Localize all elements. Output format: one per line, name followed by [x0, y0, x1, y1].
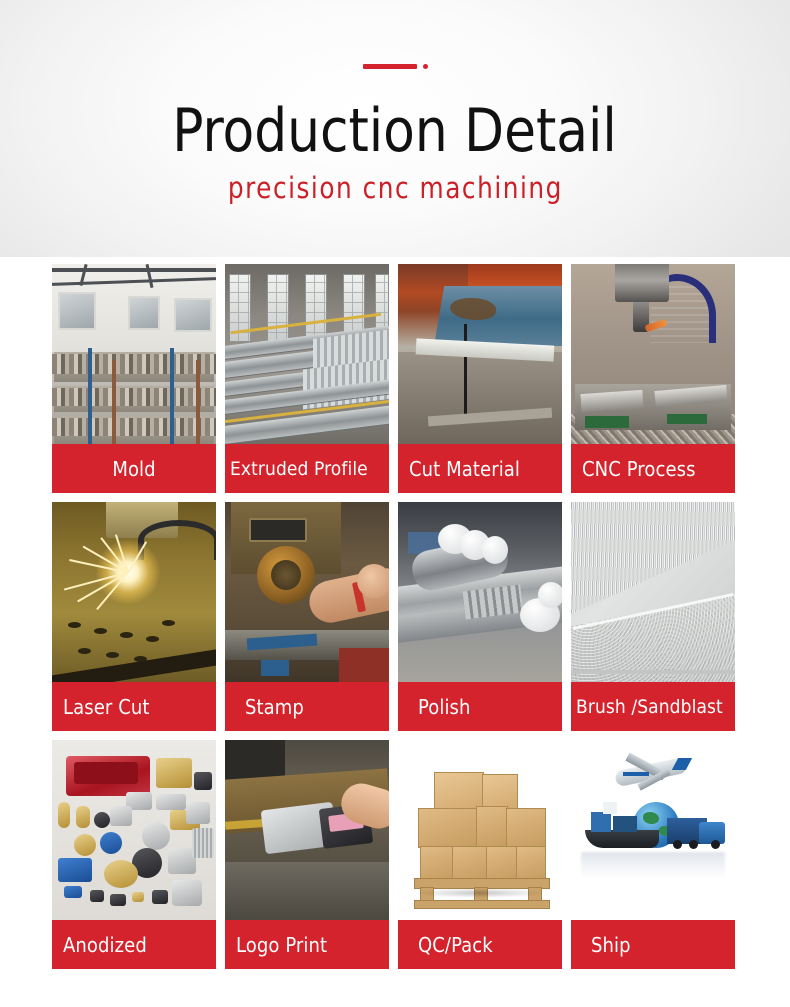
dash-icon — [363, 64, 417, 69]
step-card[interactable]: Mold — [52, 264, 216, 493]
step-label: QC/Pack — [398, 920, 562, 969]
step-label: Brush /Sandblast — [571, 682, 735, 731]
aluminium-stacks-photo — [225, 264, 389, 444]
page-header: Production Detail precision cnc machinin… — [0, 0, 790, 257]
step-label: CNC Process — [571, 444, 735, 493]
dot-icon — [423, 64, 428, 69]
step-label: Ship — [571, 920, 735, 969]
step-label: Cut Material — [398, 444, 562, 493]
cnc-spindle-photo — [571, 264, 735, 444]
header-decoration — [363, 62, 428, 71]
brushed-metal-photo — [571, 502, 735, 682]
step-label: Mold — [52, 444, 216, 493]
step-card[interactable]: Polish — [398, 502, 562, 731]
page-subtitle: precision cnc machining — [227, 171, 562, 205]
step-label: Laser Cut — [52, 682, 216, 731]
step-card[interactable]: Laser Cut — [52, 502, 216, 731]
step-card[interactable]: Ship — [571, 740, 735, 969]
step-card[interactable]: Stamp — [225, 502, 389, 731]
saw-cutting-photo — [398, 264, 562, 444]
logo-printing-photo — [225, 740, 389, 920]
step-label: Logo Print — [225, 920, 389, 969]
header-content: Production Detail precision cnc machinin… — [0, 0, 790, 257]
step-label: Polish — [398, 682, 562, 731]
cartons-pallet-photo — [398, 740, 562, 920]
factory-racks-photo — [52, 264, 216, 444]
polishing-hands-photo — [398, 502, 562, 682]
step-label: Stamp — [225, 682, 389, 731]
step-label: Extruded Profile — [225, 444, 389, 493]
production-steps-grid: Mold Extruded Profile — [52, 264, 738, 969]
stamping-press-photo — [225, 502, 389, 682]
step-card[interactable]: Logo Print — [225, 740, 389, 969]
step-card[interactable]: QC/Pack — [398, 740, 562, 969]
step-card[interactable]: Brush /Sandblast — [571, 502, 735, 731]
step-label: Anodized — [52, 920, 216, 969]
step-card[interactable]: Extruded Profile — [225, 264, 389, 493]
step-card[interactable]: Cut Material — [398, 264, 562, 493]
step-card[interactable]: Anodized — [52, 740, 216, 969]
laser-sparks-photo — [52, 502, 216, 682]
step-card[interactable]: CNC Process — [571, 264, 735, 493]
page-title: Production Detail — [173, 98, 618, 164]
logistics-globe-photo — [571, 740, 735, 920]
anodized-parts-photo — [52, 740, 216, 920]
